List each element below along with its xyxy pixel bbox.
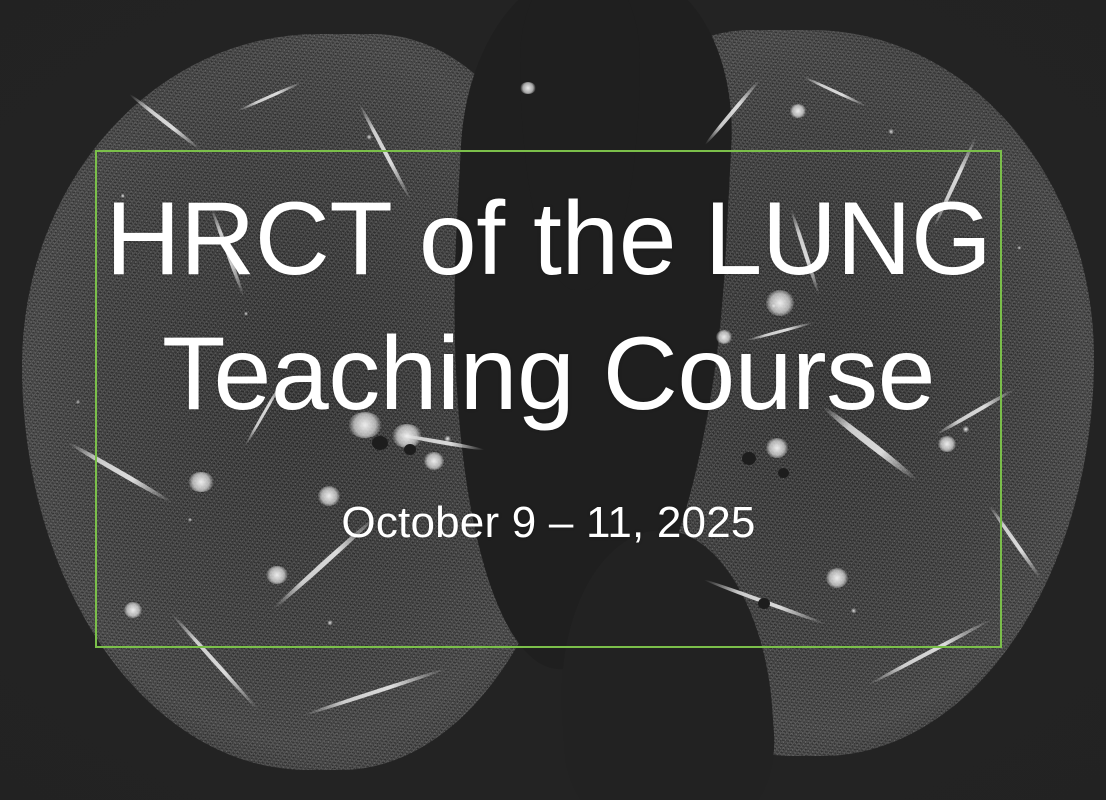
title-slide: HRCT of the LUNG Teaching Course October… (0, 0, 1106, 800)
page-title-line-2: Teaching Course (162, 307, 935, 442)
page-title-line-1: HRCT of the LUNG (106, 172, 992, 307)
course-date-subtitle: October 9 – 11, 2025 (341, 498, 755, 548)
title-text-block: HRCT of the LUNG Teaching Course October… (95, 150, 1002, 648)
